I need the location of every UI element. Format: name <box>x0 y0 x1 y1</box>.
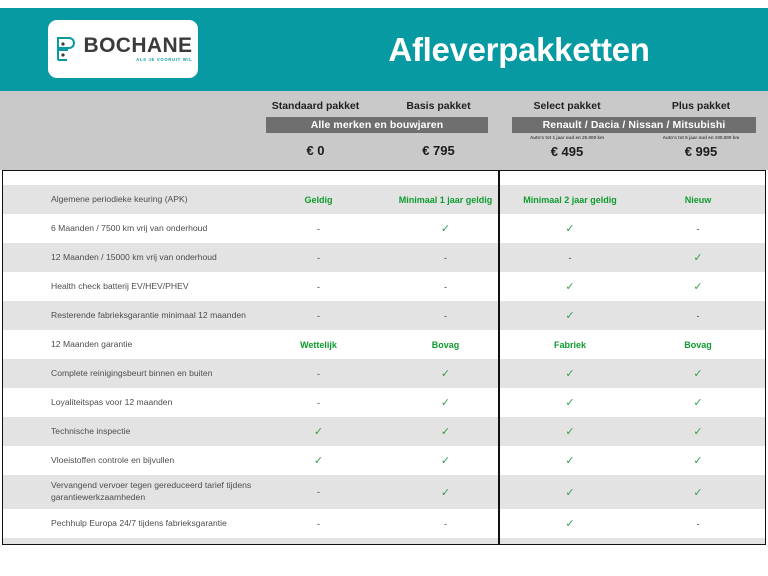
row-label: Health check batterij EV/HEV/PHEV <box>3 281 255 293</box>
afleverpakketten-page: BOCHANE ALS JE VOORUIT WIL Afleverpakket… <box>0 0 768 576</box>
cell-check: ✓ <box>382 367 509 380</box>
cell-dash: - <box>255 519 382 529</box>
cell-check: ✓ <box>509 517 631 530</box>
cell-check: ✓ <box>509 425 631 438</box>
package-group-all-brands: Standaard pakket Basis pakket Alle merke… <box>254 91 500 170</box>
cell-dash: - <box>631 224 765 234</box>
comparison-table: Algemene periodieke keuring (APK)GeldigM… <box>2 170 766 545</box>
bochane-b-mark-icon <box>54 35 78 63</box>
group-divider <box>498 170 500 545</box>
group-column-names: Select pakket Plus pakket <box>500 100 768 112</box>
table-row: Pechhulp Europa 24/7 tijdens fabrieksgar… <box>3 509 765 538</box>
cell-dash: - <box>255 282 382 292</box>
price-basis: € 795 <box>377 143 500 158</box>
row-label: 12 Maanden / 15000 km vrij van onderhoud <box>3 252 255 264</box>
row-label: Pechhulp Europa 24/7 tijdens fabrieksgar… <box>3 518 255 530</box>
logo-tagline: ALS JE VOORUIT WIL <box>136 58 192 62</box>
column-name-standaard: Standaard pakket <box>254 100 377 112</box>
cell-check: ✓ <box>382 222 509 235</box>
row-label: 12 Maanden garantie <box>3 339 255 351</box>
group-prices: € 0 € 795 <box>254 143 500 158</box>
table-row: Vloeistoffen controle en bijvullen✓✓✓✓ <box>3 446 765 475</box>
group-banner-brands: Renault / Dacia / Nissan / Mitsubishi <box>512 117 756 133</box>
cell-check: ✓ <box>509 454 631 467</box>
cell-text: Bovag <box>382 340 509 350</box>
cell-check: ✓ <box>382 425 509 438</box>
cell-check: ✓ <box>382 396 509 409</box>
logo-word: BOCHANE <box>84 35 193 56</box>
cell-check: ✓ <box>509 280 631 293</box>
row-label: Technische inspectie <box>3 426 255 438</box>
cell-text: Bovag <box>631 340 765 350</box>
cell-text: Fabriek <box>509 340 631 350</box>
cell-dash: - <box>631 311 765 321</box>
row-label: Resterende fabrieksgarantie minimaal 12 … <box>3 310 255 322</box>
column-note-select: Auto's tot 1 jaar oud en 20.000 km <box>500 135 634 140</box>
cell-text: Wettelijk <box>255 340 382 350</box>
cell-dash: - <box>255 311 382 321</box>
cell-check: ✓ <box>255 425 382 438</box>
cell-text: Geldig <box>255 195 382 205</box>
cell-check: ✓ <box>509 367 631 380</box>
table-row: Health check batterij EV/HEV/PHEV--✓✓ <box>3 272 765 301</box>
group-subnotes: Auto's tot 1 jaar oud en 20.000 km Auto'… <box>500 135 768 140</box>
table-row: 6 Maanden / 7500 km vrij van onderhoud-✓… <box>3 214 765 243</box>
cell-check: ✓ <box>509 309 631 322</box>
table-row: Resterende fabrieksgarantie minimaal 12 … <box>3 301 765 330</box>
group-banner-all-brands: Alle merken en bouwjaren <box>266 117 488 133</box>
price-select: € 495 <box>500 144 634 159</box>
row-label: 6 Maanden / 7500 km vrij van onderhoud <box>3 223 255 235</box>
package-group-renault-dacia-nissan-mitsubishi: Select pakket Plus pakket Renault / Daci… <box>500 91 768 170</box>
column-name-select: Select pakket <box>500 100 634 112</box>
cell-dash: - <box>382 253 509 263</box>
cell-dash: - <box>382 311 509 321</box>
row-label: Vloeistoffen controle en bijvullen <box>3 455 255 467</box>
cell-check: ✓ <box>631 454 765 467</box>
cell-check: ✓ <box>631 396 765 409</box>
cell-check: ✓ <box>631 280 765 293</box>
table-row: 12 Maanden garantieWettelijkBovagFabriek… <box>3 330 765 359</box>
cell-text: Nieuw <box>631 195 765 205</box>
cell-check: ✓ <box>509 222 631 235</box>
cell-text: Minimaal 2 jaar geldig <box>509 195 631 205</box>
cell-check: ✓ <box>631 367 765 380</box>
cell-dash: - <box>382 519 509 529</box>
group-prices: € 495 € 995 <box>500 144 768 159</box>
cell-check: ✓ <box>631 251 765 264</box>
cell-check: ✓ <box>631 486 765 499</box>
row-label: Complete reinigingsbeurt binnen en buite… <box>3 368 255 380</box>
cell-dash: - <box>382 282 509 292</box>
cell-check: ✓ <box>631 425 765 438</box>
table-body: Algemene periodieke keuring (APK)GeldigM… <box>3 185 765 545</box>
row-label: Loyaliteitspas voor 12 maanden <box>3 397 255 409</box>
table-row: 12 Maanden / 15000 km vrij van onderhoud… <box>3 243 765 272</box>
table-row: Algemene periodieke keuring (APK)GeldigM… <box>3 185 765 214</box>
column-name-basis: Basis pakket <box>377 100 500 112</box>
group-column-names: Standaard pakket Basis pakket <box>254 100 500 112</box>
page-header: BOCHANE ALS JE VOORUIT WIL Afleverpakket… <box>0 8 768 91</box>
row-label: Vervangend vervoer tegen gereduceerd tar… <box>3 480 255 503</box>
cell-dash: - <box>255 224 382 234</box>
cell-text: Minimaal 1 jaar geldig <box>382 195 509 205</box>
cell-dash: - <box>255 398 382 408</box>
cell-dash: - <box>255 487 382 497</box>
bochane-logo[interactable]: BOCHANE ALS JE VOORUIT WIL <box>48 20 198 78</box>
table-row: Technische inspectie✓✓✓✓ <box>3 417 765 446</box>
table-row: € 25,- Brandstof of volle accu-✓✓✓ <box>3 538 765 545</box>
cell-dash: - <box>255 369 382 379</box>
price-standaard: € 0 <box>254 143 377 158</box>
cell-check: ✓ <box>509 396 631 409</box>
cell-dash: - <box>509 253 631 263</box>
cell-check: ✓ <box>382 454 509 467</box>
price-plus: € 995 <box>634 144 768 159</box>
cell-check: ✓ <box>382 486 509 499</box>
table-row: Vervangend vervoer tegen gereduceerd tar… <box>3 475 765 509</box>
column-header-band: Standaard pakket Basis pakket Alle merke… <box>0 91 768 170</box>
column-name-plus: Plus pakket <box>634 100 768 112</box>
row-label: Algemene periodieke keuring (APK) <box>3 194 255 206</box>
cell-check: ✓ <box>509 486 631 499</box>
table-row: Complete reinigingsbeurt binnen en buite… <box>3 359 765 388</box>
cell-check: ✓ <box>255 454 382 467</box>
cell-dash: - <box>255 253 382 263</box>
page-title: Afleverpakketten <box>270 8 768 91</box>
column-note-plus: Auto's tot 5 jaar oud en 100.000 km <box>634 135 768 140</box>
cell-dash: - <box>631 519 765 529</box>
table-row: Loyaliteitspas voor 12 maanden-✓✓✓ <box>3 388 765 417</box>
logo-wordmark: BOCHANE ALS JE VOORUIT WIL <box>84 35 193 62</box>
table-top-spacer <box>3 171 765 185</box>
